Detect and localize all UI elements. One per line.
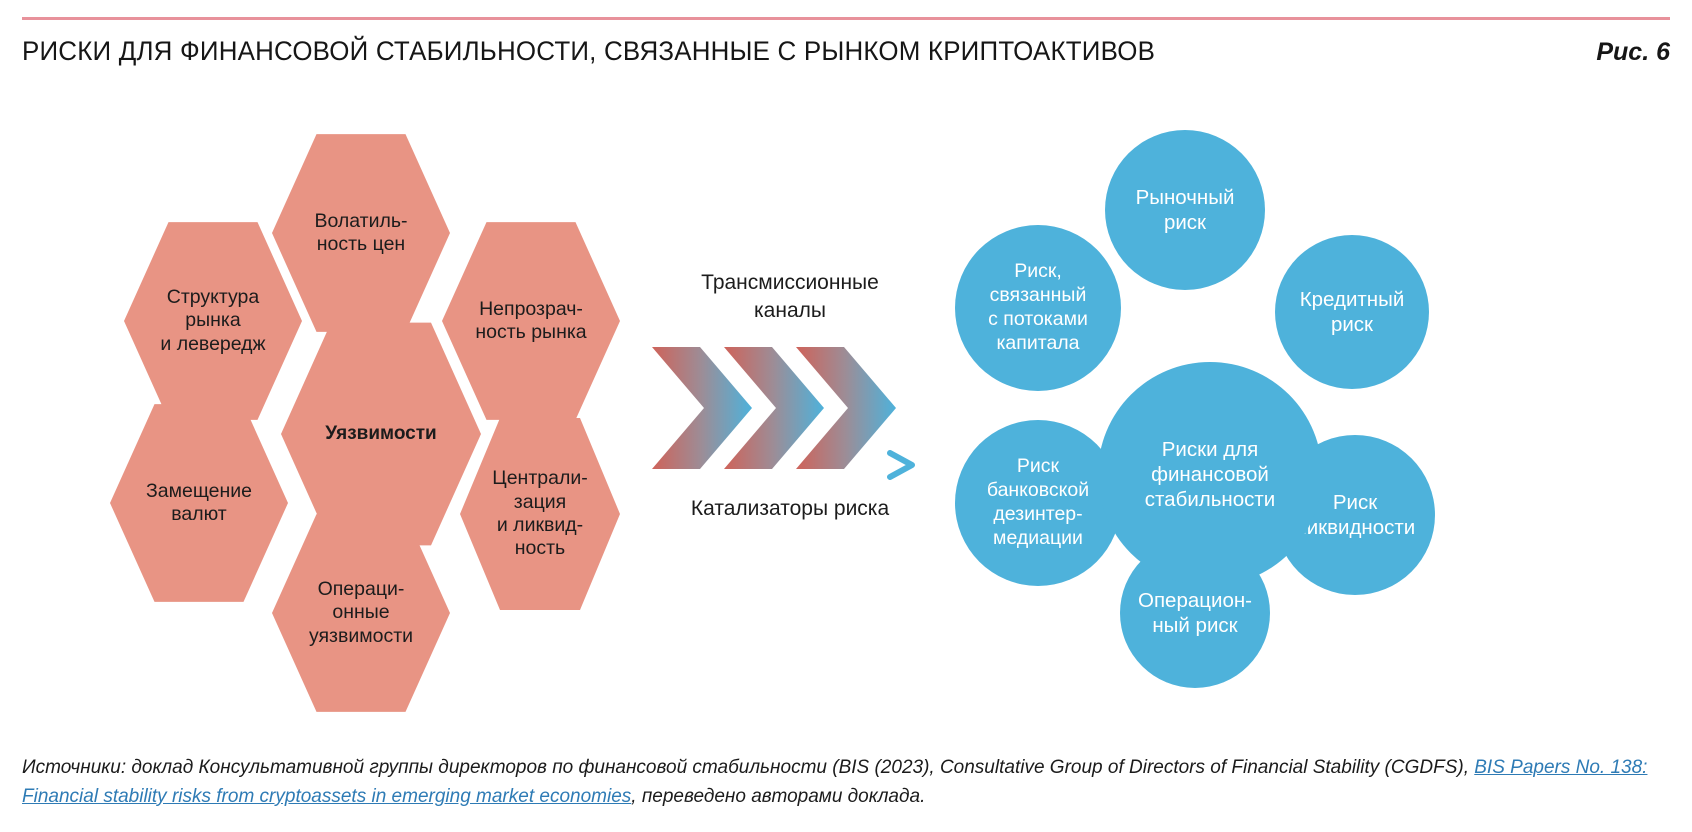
circle-credit-risk: Кредитныйриск bbox=[1275, 235, 1429, 389]
hex-label: Непрозрач-ность рынка bbox=[469, 298, 592, 345]
source-prefix: Источники: доклад Консультативной группы… bbox=[22, 757, 1474, 778]
hex-market-structure-leverage: Структурарынкаи левередж bbox=[124, 218, 302, 424]
hex-vulnerabilities-center: Уязвимости bbox=[281, 318, 481, 550]
circle-capital-flow-risk: Риск,связанныйс потокамикапитала bbox=[955, 225, 1121, 391]
risk-catalysts-caption: Катализаторы риска bbox=[640, 497, 940, 521]
circle-label: Кредитныйриск bbox=[1292, 287, 1413, 337]
hex-market-opacity: Непрозрач-ность рынка bbox=[442, 218, 620, 424]
hex-label: Волатиль-ность цен bbox=[308, 210, 413, 257]
source-suffix: , переведено авторами доклада. bbox=[631, 786, 925, 807]
hex-label: Операци-онныеуязвимости bbox=[303, 578, 419, 648]
hex-price-volatility: Волатиль-ность цен bbox=[272, 130, 450, 336]
figure-page: РИСКИ ДЛЯ ФИНАНСОВОЙ СТАБИЛЬНОСТИ, СВЯЗА… bbox=[0, 0, 1692, 832]
circle-label: Операцион-ный риск bbox=[1130, 588, 1260, 638]
hex-label: Замещениевалют bbox=[140, 480, 258, 527]
risk-catalysts-arrow-icon bbox=[650, 450, 922, 480]
hex-centralization-liquidity: Централи-зацияи ликвид-ность bbox=[460, 414, 620, 614]
circle-bank-disintermediation-risk: Рискбанковскойдезинтер-медиации bbox=[955, 420, 1121, 586]
figure-number-label: Рис. 6 bbox=[1596, 38, 1670, 67]
vulnerabilities-hex-cluster: Структурарынкаи левередж Волатиль-ность … bbox=[0, 0, 700, 700]
transmission-channels-group: Трансмиссионныеканалы bbox=[640, 255, 940, 565]
circle-financial-stability-risks-center: Риски дляфинансовойстабильности bbox=[1098, 362, 1322, 586]
hex-label: Уязвимости bbox=[319, 423, 442, 446]
circle-market-risk: Рыночныйриск bbox=[1105, 130, 1265, 290]
hex-currency-substitution: Замещениевалют bbox=[110, 400, 288, 606]
circle-label: Риск,связанныйс потокамикапитала bbox=[980, 260, 1096, 355]
circle-label: Риски дляфинансовойстабильности bbox=[1137, 437, 1283, 512]
source-note: Источники: доклад Консультативной группы… bbox=[22, 754, 1678, 812]
financial-stability-risks-circle-cluster: Рыночныйриск Риск,связанныйс потокамикап… bbox=[930, 100, 1490, 680]
circle-label: Рискбанковскойдезинтер-медиации bbox=[979, 455, 1097, 550]
circle-label: Рыночныйриск bbox=[1128, 185, 1243, 235]
hex-label: Централи-зацияи ликвид-ность bbox=[486, 467, 593, 561]
transmission-channels-title: Трансмиссионныеканалы bbox=[640, 269, 940, 324]
hex-label: Структурарынкаи левередж bbox=[154, 286, 271, 356]
